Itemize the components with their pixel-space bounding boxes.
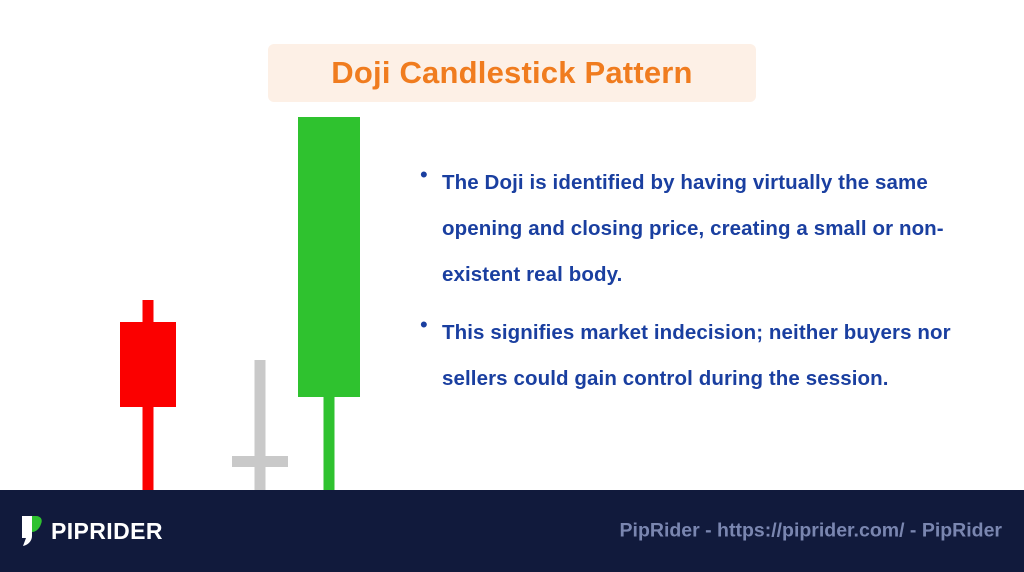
brand-logo: PIPRIDER xyxy=(18,514,163,548)
page-title: Doji Candlestick Pattern xyxy=(331,55,692,91)
bullet-icon: • xyxy=(420,160,442,190)
doji-candle-body xyxy=(232,456,288,467)
bullish-candle xyxy=(298,117,360,527)
list-item: • This signifies market indecision; neit… xyxy=(420,310,990,402)
bearish-candle-body xyxy=(120,322,176,407)
bullish-candle-body xyxy=(298,117,360,397)
piprider-logo-icon xyxy=(18,514,44,548)
bullet-icon: • xyxy=(420,310,442,340)
title-banner: Doji Candlestick Pattern xyxy=(268,44,756,102)
list-item: • The Doji is identified by having virtu… xyxy=(420,160,990,298)
candlestick-diagram xyxy=(60,110,420,480)
footer-bar: PIPRIDER PipRider - https://piprider.com… xyxy=(0,490,1024,572)
bullet-list: • The Doji is identified by having virtu… xyxy=(420,160,990,414)
bullet-text: This signifies market indecision; neithe… xyxy=(442,310,990,402)
slide: Doji Candlestick Pattern • The Doji is i… xyxy=(0,0,1024,572)
footer-caption: PipRider - https://piprider.com/ - PipRi… xyxy=(620,520,1002,543)
bullet-text: The Doji is identified by having virtual… xyxy=(442,160,990,298)
brand-name: PIPRIDER xyxy=(51,518,163,545)
